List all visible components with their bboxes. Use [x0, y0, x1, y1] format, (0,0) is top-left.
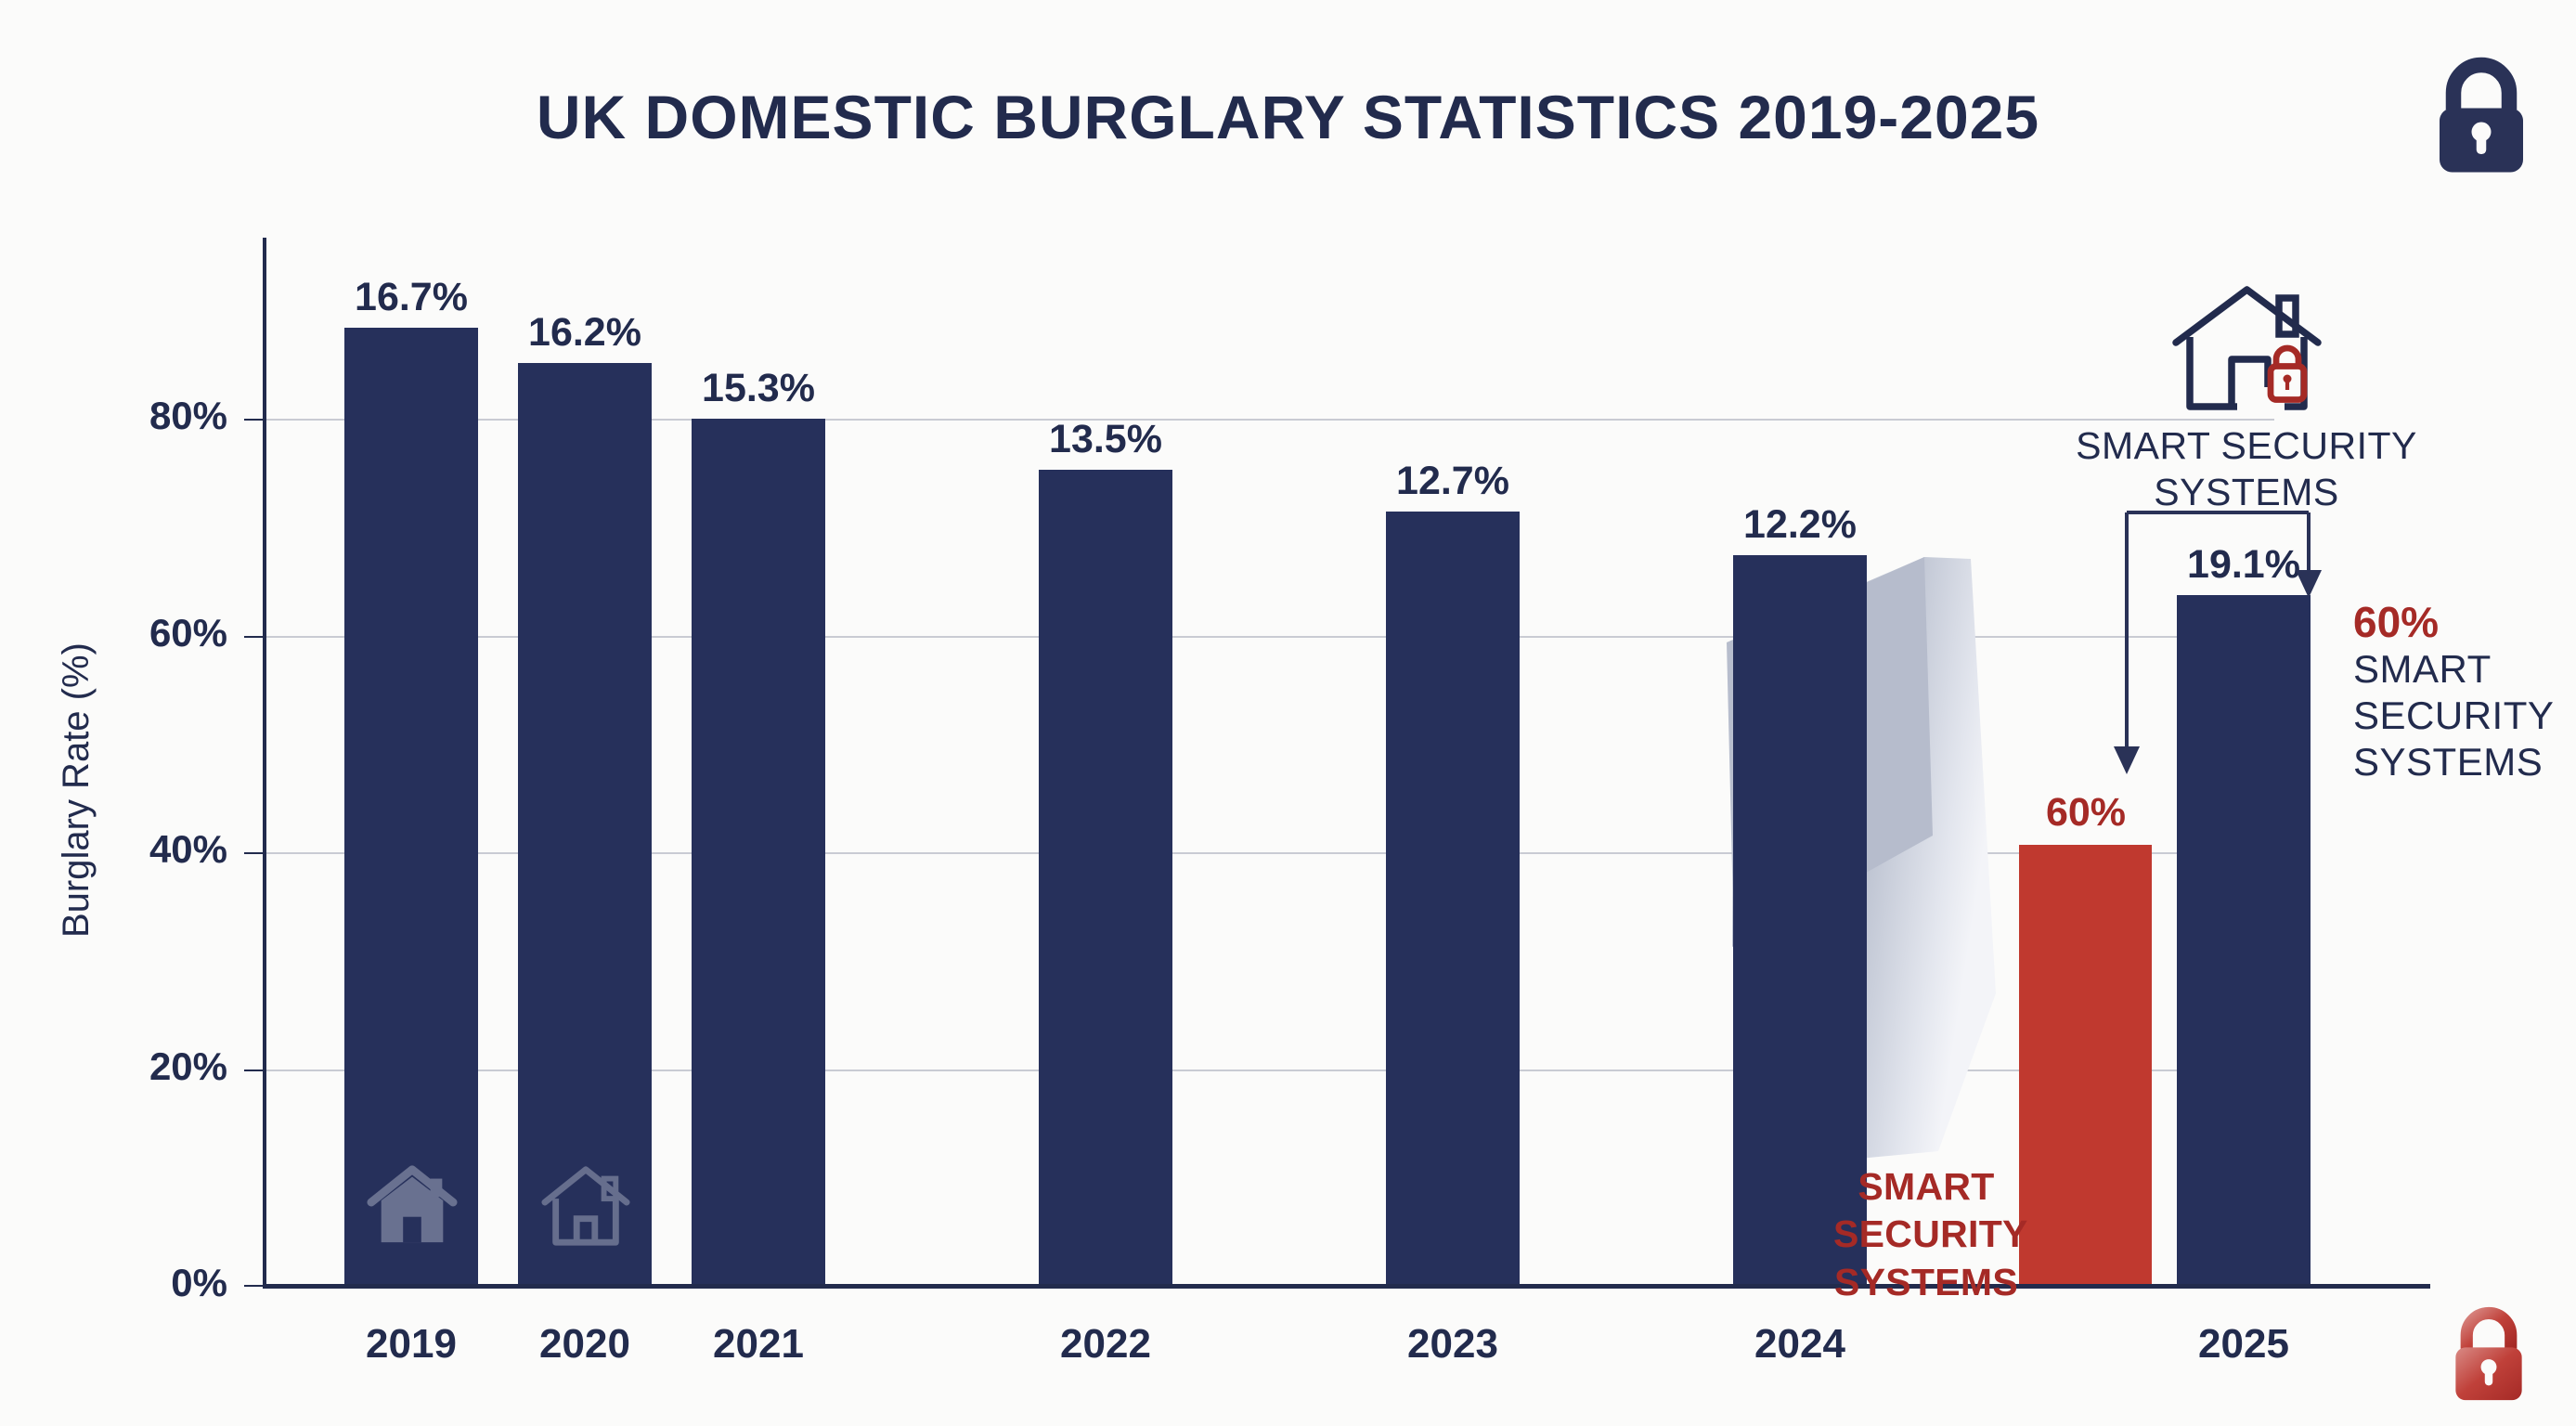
y-tick-40 [244, 852, 265, 854]
bar-2022[interactable] [1039, 470, 1172, 1286]
bar-2020[interactable] [518, 363, 652, 1286]
red-bar-annotation: SMART SECURITY SYSTEMS [1833, 1163, 2019, 1306]
y-tick-label-80: 80% [70, 394, 227, 438]
y-tick-label-20: 20% [70, 1044, 227, 1089]
bar-2019[interactable] [344, 328, 478, 1286]
bar-smart-security-red[interactable] [2019, 845, 2152, 1286]
page-title: UK DOMESTIC BURGLARY STATISTICS 2019-202… [0, 82, 2576, 152]
house-icon-bar-2019 [367, 1159, 458, 1250]
x-tick-label-2022: 2022 [994, 1321, 1217, 1368]
smart-security-heading-line1: SMART SECURITY [2070, 422, 2423, 469]
red-bar-annotation-line1: SMART [1833, 1163, 2019, 1211]
lock-icon-top-right [2412, 48, 2551, 188]
lock-icon-bottom-right [2427, 1292, 2550, 1415]
chart-canvas: UK DOMESTIC BURGLARY STATISTICS 2019-202… [0, 0, 2576, 1426]
y-tick-80 [244, 419, 265, 421]
x-axis-line [263, 1284, 2430, 1289]
bar-label-smart-security-red: 60% [1974, 790, 2197, 836]
y-tick-label-0: 0% [70, 1261, 227, 1305]
red-bar-annotation-line3: SYSTEMS [1833, 1259, 2019, 1306]
right-annotation-label-line2: SECURITY [2353, 693, 2567, 739]
bar-label-2024: 12.2% [1689, 502, 1911, 548]
smart-security-heading: SMART SECURITY SYSTEMS [2070, 422, 2423, 515]
bar-label-2020: 16.2% [473, 310, 696, 356]
right-annotation: 60% SMART SECURITY SYSTEMS [2353, 599, 2567, 786]
x-tick-label-2021: 2021 [647, 1321, 870, 1368]
bar-label-2022: 13.5% [994, 417, 1217, 462]
red-bar-annotation-line2: SECURITY [1833, 1211, 2019, 1258]
x-tick-label-2024: 2024 [1689, 1321, 1911, 1368]
right-annotation-value: 60% [2353, 599, 2567, 646]
house-outline-icon-bar-2020 [540, 1159, 631, 1250]
right-annotation-label-line3: SYSTEMS [2353, 739, 2567, 785]
y-axis-title: Burglary Rate (%) [56, 642, 97, 938]
x-tick-label-2025: 2025 [2132, 1321, 2355, 1368]
bar-2023[interactable] [1386, 512, 1520, 1286]
right-annotation-label-line1: SMART [2353, 646, 2567, 693]
bar-label-2023: 12.7% [1341, 459, 1564, 504]
y-tick-0 [244, 1285, 265, 1287]
y-tick-60 [244, 636, 265, 638]
x-tick-label-2023: 2023 [1341, 1321, 1564, 1368]
y-tick-20 [244, 1069, 265, 1071]
house-with-lock-icon [2170, 279, 2324, 418]
bar-label-2021: 15.3% [647, 366, 870, 411]
bar-2021[interactable] [692, 419, 825, 1286]
right-annotation-label: SMART SECURITY SYSTEMS [2353, 646, 2567, 786]
y-axis-line [263, 238, 266, 1289]
